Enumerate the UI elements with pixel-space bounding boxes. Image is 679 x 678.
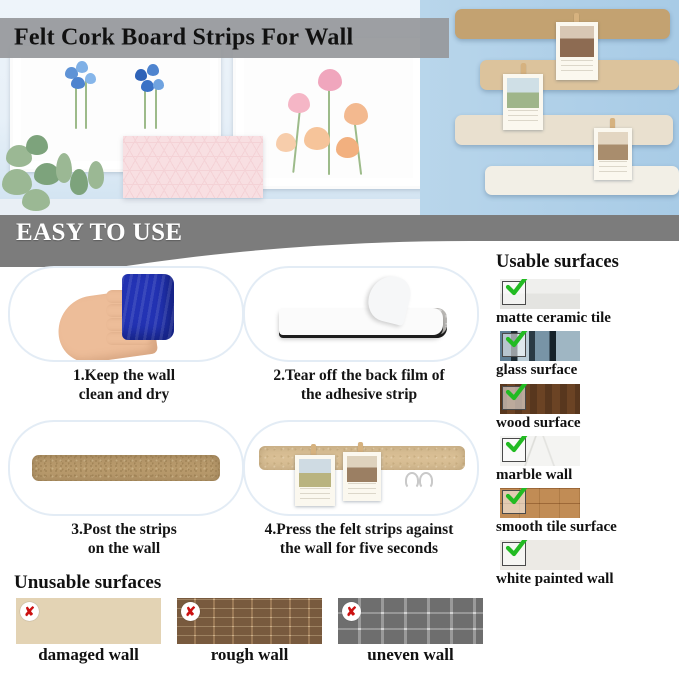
usable-item-white-painted-wall: white painted wall [492, 540, 679, 588]
surface-thumbnail: ✘ [177, 598, 322, 644]
step-3: 3.Post the strips on the wall [8, 420, 240, 559]
check-icon [504, 436, 530, 456]
photo-image [598, 132, 628, 160]
hanging-photo-1 [556, 22, 598, 80]
page-title: Felt Cork Board Strips For Wall [14, 25, 353, 52]
check-icon [504, 384, 530, 404]
check-icon [504, 488, 530, 508]
step-2-caption: 2.Tear off the back film of the adhesive… [243, 367, 475, 405]
checkbox [502, 438, 526, 462]
hanging-photo-3 [594, 128, 632, 180]
step-4-caption: 4.Press the felt strips against the wall… [243, 521, 475, 559]
x-glyph: ✘ [20, 602, 39, 621]
x-glyph: ✘ [342, 602, 361, 621]
step-4: 4.Press the felt strips against the wall… [243, 420, 475, 559]
surface-thumbnail [500, 279, 580, 309]
surface-thumbnail [500, 331, 580, 361]
step-4-line-2: the wall for five seconds [243, 540, 475, 559]
usable-item-wood-surface: wood surface [492, 384, 679, 432]
unusable-items-row: ✘ damaged wall ✘ rough wall ✘ [16, 598, 488, 665]
steps-grid: 1.Keep the wall clean and dry 2.Tear off… [0, 266, 487, 572]
hanging-photo-2 [503, 74, 543, 130]
usable-item-label: wood surface [496, 415, 679, 432]
photo-image [560, 26, 594, 57]
cork-strip-3 [455, 115, 673, 145]
step-1-line-1: 1.Keep the wall [73, 367, 175, 384]
usable-surfaces-heading: Usable surfaces [496, 252, 679, 273]
unusable-surfaces-section: Unusable surfaces ✘ damaged wall ✘ rough… [8, 572, 488, 665]
step-3-line-1: 3.Post the strips [71, 521, 176, 538]
step-2: 2.Tear off the back film of the adhesive… [243, 266, 475, 405]
pinned-photo-2 [343, 452, 381, 501]
unusable-item-uneven-wall: ✘ uneven wall [338, 598, 483, 665]
x-icon: ✘ [342, 602, 361, 621]
usable-item-glass-surface: glass surface [492, 331, 679, 379]
product-infographic: Felt Cork Board Strips For Wall EASY TO … [0, 0, 679, 678]
step-1-caption: 1.Keep the wall clean and dry [8, 367, 240, 405]
usable-surfaces-section: Usable surfaces matte ceramic tile glass… [492, 252, 679, 593]
usable-item-label: white painted wall [496, 571, 679, 588]
unusable-item-rough-wall: ✘ rough wall [177, 598, 322, 665]
photo-caption-lines [348, 483, 376, 496]
unusable-surfaces-heading: Unusable surfaces [14, 572, 488, 594]
step-2-line-2: the adhesive strip [243, 386, 475, 405]
surface-thumbnail: ✘ [338, 598, 483, 644]
step-3-caption: 3.Post the strips on the wall [8, 521, 240, 559]
photo-caption-lines [508, 110, 538, 125]
check-icon [504, 279, 530, 299]
usable-item-smooth-tile-surface: smooth tile surface [492, 488, 679, 536]
cork-strip-icon [32, 455, 220, 481]
step-1-illustration [8, 266, 244, 362]
unusable-item-label: uneven wall [338, 645, 483, 665]
adhesive-strip [279, 308, 443, 335]
surface-thumbnail [500, 488, 580, 518]
step-2-illustration [243, 266, 479, 362]
x-glyph: ✘ [181, 602, 200, 621]
step-4-line-1: 4.Press the felt strips against [265, 521, 454, 538]
surface-thumbnail [500, 540, 580, 570]
unusable-item-label: rough wall [177, 645, 322, 665]
usable-item-label: matte ceramic tile [496, 310, 679, 327]
usable-item-marble-wall: marble wall [492, 436, 679, 484]
x-icon: ✘ [181, 602, 200, 621]
photo-caption-lines [561, 60, 593, 75]
title-banner: Felt Cork Board Strips For Wall [0, 18, 449, 58]
cork-strip-4 [485, 166, 679, 195]
potted-plant [0, 133, 120, 215]
pinned-photo-1 [295, 455, 335, 506]
step-1: 1.Keep the wall clean and dry [8, 266, 240, 405]
usable-item-label: marble wall [496, 467, 679, 484]
pushpin-icon [405, 472, 419, 489]
step-3-illustration [8, 420, 244, 516]
step-2-line-1: 2.Tear off the back film of [273, 367, 444, 384]
usable-item-label: glass surface [496, 362, 679, 379]
surface-thumbnail [500, 384, 580, 414]
check-icon [504, 540, 530, 560]
easy-to-use-heading: EASY TO USE [16, 219, 183, 247]
usable-item-matte-ceramic-tile: matte ceramic tile [492, 279, 679, 327]
surface-thumbnail: ✘ [16, 598, 161, 644]
pushpin-icon [419, 472, 433, 489]
usable-item-label: smooth tile surface [496, 519, 679, 536]
photo-caption-lines [599, 161, 627, 175]
unusable-item-damaged-wall: ✘ damaged wall [16, 598, 161, 665]
photo-image [299, 459, 331, 487]
surface-thumbnail [500, 436, 580, 466]
photo-image [507, 78, 539, 108]
check-icon [504, 331, 530, 351]
photo-image [347, 456, 377, 482]
hero-image: Felt Cork Board Strips For Wall [0, 0, 679, 215]
step-4-illustration [243, 420, 479, 516]
pink-patterned-box [123, 136, 263, 198]
step-1-line-2: clean and dry [8, 386, 240, 405]
unusable-item-label: damaged wall [16, 645, 161, 665]
x-icon: ✘ [20, 602, 39, 621]
photo-caption-lines [300, 488, 330, 501]
step-3-line-2: on the wall [8, 540, 240, 559]
blue-cloth-icon [122, 274, 174, 340]
